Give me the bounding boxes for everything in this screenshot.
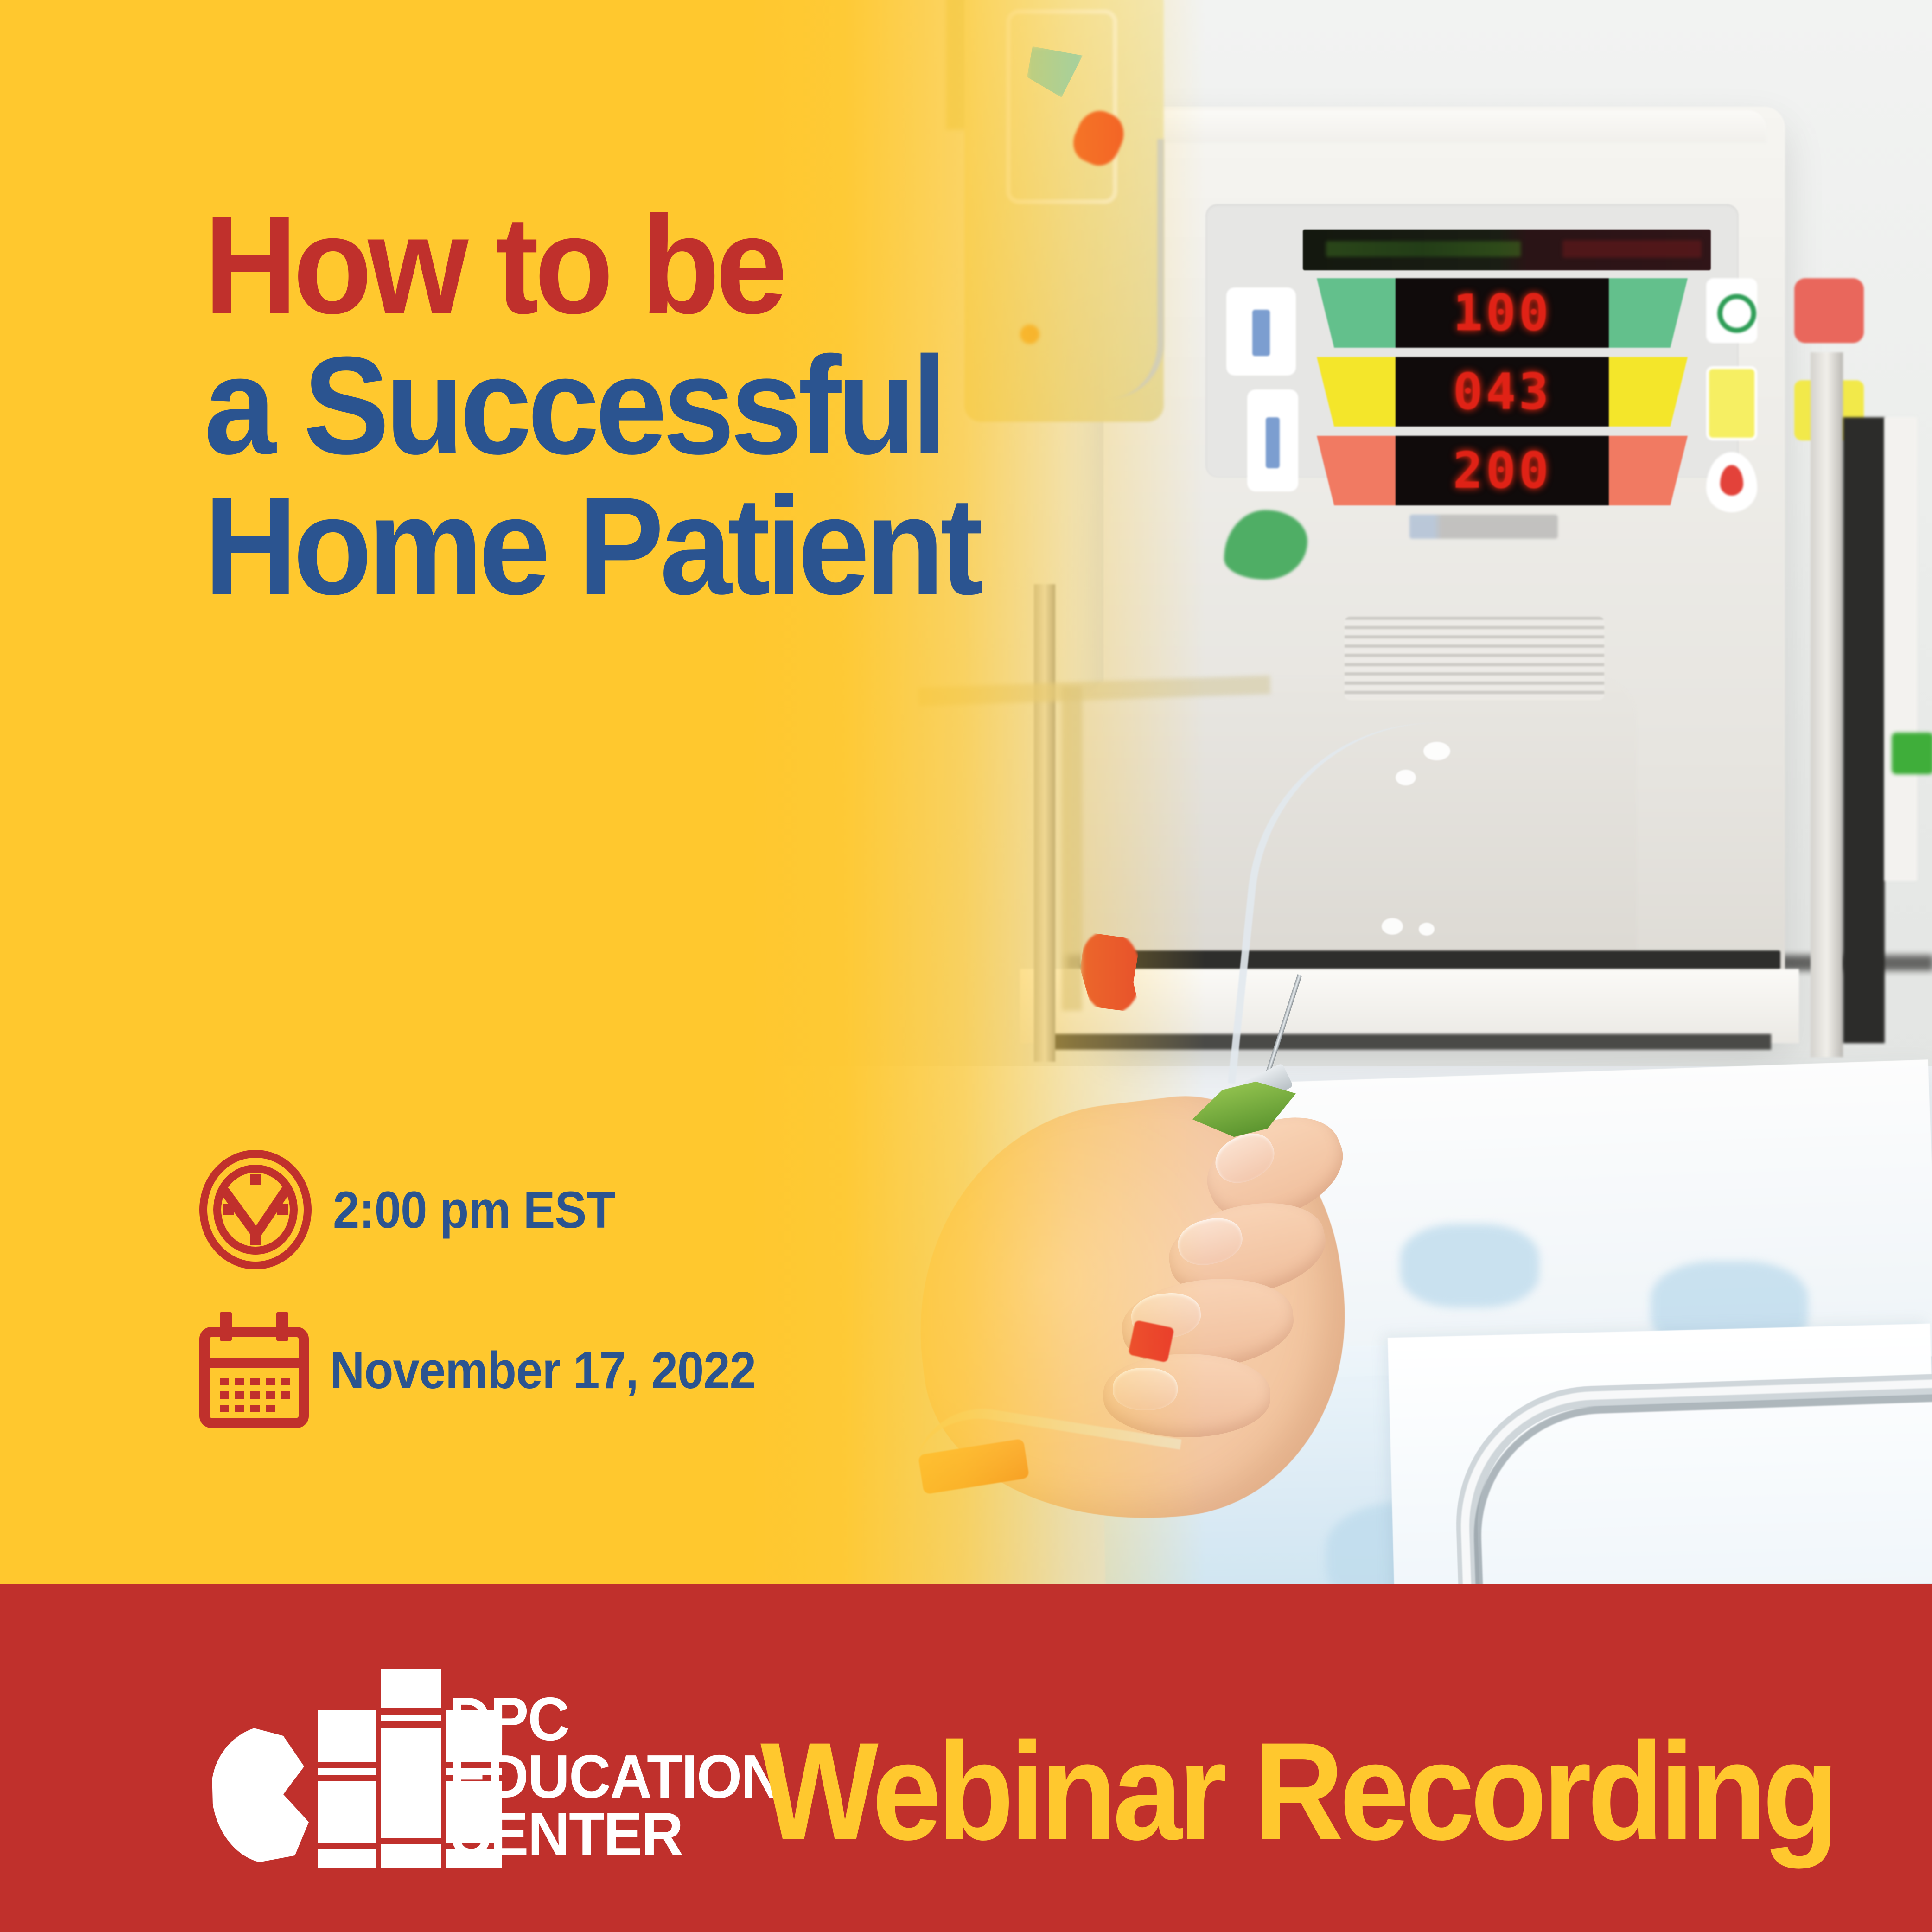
machine-vent-grille (1345, 617, 1604, 700)
readout-left-wedge (1317, 436, 1396, 505)
book-stripe (381, 1721, 441, 1728)
clock-tick-12 (250, 1174, 261, 1185)
tubing-bubble (1396, 770, 1416, 785)
dpc-education-center-logo[interactable]: DPC EDUCATION CENTER (211, 1669, 800, 1868)
readout-value-top: 100 (1396, 278, 1609, 348)
green-clip (1892, 733, 1932, 774)
tubing-bubble (1382, 918, 1403, 935)
calendar-day (235, 1378, 244, 1385)
dark-column (1843, 417, 1885, 1043)
calendar-day-empty (281, 1405, 290, 1412)
calendar-header-bar (210, 1358, 299, 1368)
calendar-day (281, 1391, 290, 1398)
title-line-3: Home Patient (204, 476, 1239, 616)
calendar-day (235, 1405, 244, 1412)
calendar-day (266, 1391, 275, 1398)
tubing-bubble (1423, 742, 1450, 760)
readout-value-middle: 043 (1396, 357, 1609, 427)
tubing-bubble (1419, 923, 1435, 936)
lcd-red-text (1562, 240, 1702, 258)
machine-button-b (1247, 389, 1298, 491)
logo-line-2: EDUCATION (449, 1748, 782, 1805)
calendar-body (199, 1327, 309, 1428)
calendar-day (220, 1405, 229, 1412)
white-column (1885, 417, 1917, 881)
calendar-day (250, 1378, 259, 1385)
event-date-row: November 17, 2022 (199, 1312, 793, 1428)
kidney-shape-icon (211, 1725, 327, 1864)
readout-right-wedge (1609, 436, 1688, 505)
calendar-day (250, 1391, 259, 1398)
title-line-2: a Successful (204, 335, 1239, 476)
readout-right-wedge (1609, 357, 1688, 427)
calendar-day (220, 1391, 229, 1398)
event-time-row: 2:00 pm EST (199, 1150, 639, 1269)
calendar-day-grid (220, 1378, 290, 1412)
machine-timer-icon (1706, 278, 1757, 343)
machine-top-bevel (1122, 110, 1766, 143)
book-stripe (381, 1708, 441, 1715)
iv-pole-right (1811, 352, 1843, 1057)
machine-stop-button (1794, 278, 1864, 343)
dpc-kidney-books-logo-icon (211, 1669, 429, 1868)
calendar-day (266, 1405, 275, 1412)
book-stripe (318, 1775, 376, 1781)
calendar-day (266, 1378, 275, 1385)
machine-readout-row-bottom: 200 (1317, 436, 1688, 505)
equipment-stand-leg (1062, 686, 1082, 1011)
calendar-day (235, 1391, 244, 1398)
fingernail (1113, 1368, 1178, 1410)
book-icon-left (318, 1710, 376, 1868)
event-date-label: November 17, 2022 (330, 1340, 756, 1400)
clock-icon (199, 1150, 312, 1269)
readout-left-wedge (1317, 357, 1396, 427)
machine-brand-logo (1409, 515, 1558, 539)
title-line-1: How to be (204, 195, 1239, 335)
calendar-day (220, 1378, 229, 1385)
footer-tagline: Webinar Recording (760, 1711, 1835, 1871)
readout-value-bottom: 200 (1396, 436, 1609, 505)
book-stripe (318, 1762, 376, 1768)
calendar-day (250, 1405, 259, 1412)
machine-dark-slot (1113, 950, 1780, 970)
logo-line-1: DPC (449, 1690, 782, 1748)
logo-wordmark: DPC EDUCATION CENTER (449, 1669, 782, 1863)
calendar-day (281, 1378, 290, 1385)
machine-readout-row-top: 100 (1317, 278, 1688, 348)
poster-canvas: 100 043 200 (0, 0, 1932, 1932)
book-stripe (318, 1843, 376, 1849)
page-title: How to be a Successful Home Patient (204, 195, 1239, 616)
readout-right-wedge (1609, 278, 1688, 348)
readout-left-wedge (1317, 278, 1396, 348)
iv-pole-left (1034, 584, 1055, 1062)
drape-blue-patch (1400, 1224, 1539, 1307)
event-time-label: 2:00 pm EST (333, 1180, 615, 1240)
calendar-icon (199, 1312, 309, 1428)
machine-readout-row-middle: 043 (1317, 357, 1688, 427)
machine-warning-label (1706, 366, 1757, 440)
book-icon-center (381, 1669, 441, 1868)
book-stripe (381, 1838, 441, 1844)
iv-bag-window (1006, 9, 1117, 204)
logo-line-3: CENTER (449, 1805, 782, 1863)
lcd-green-text (1326, 241, 1521, 257)
